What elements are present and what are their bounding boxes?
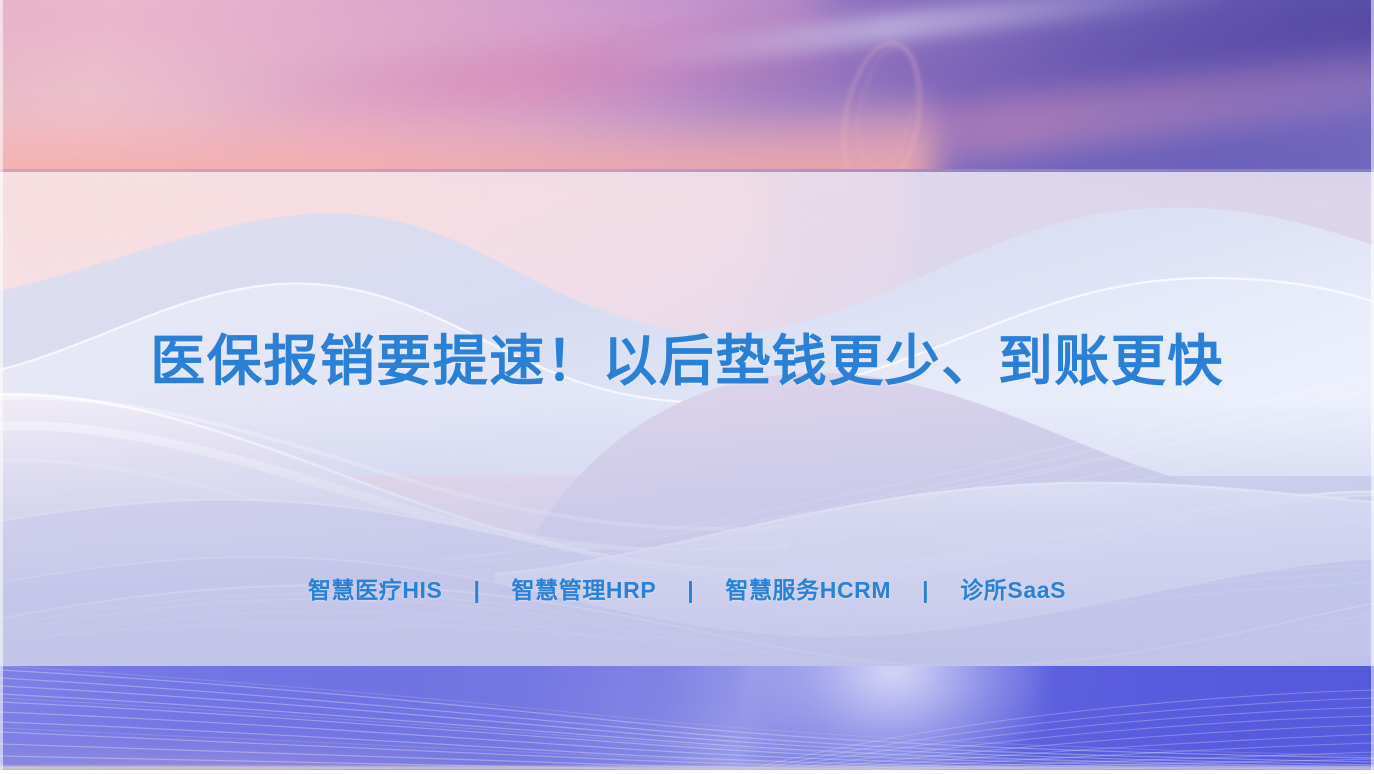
nav-separator-2: | (663, 573, 718, 607)
sunset-sky-band (0, 0, 1374, 172)
ridge-center-highlight (742, 666, 1044, 770)
nav-item-hrp[interactable]: 智慧管理HRP (512, 573, 657, 607)
nav-item-clinic-saas[interactable]: 诊所SaaS (960, 573, 1066, 607)
sky-warm-haze-lower (0, 83, 934, 172)
product-nav: 智慧医疗HIS | 智慧管理HRP | 智慧服务HCRM | 诊所SaaS (0, 573, 1374, 607)
nav-separator-1: | (449, 573, 504, 607)
poster-canvas: 医保报销要提速！以后垫钱更少、到账更快 智慧医疗HIS | 智慧管理HRP | … (0, 0, 1374, 774)
nav-separator-3: | (898, 573, 953, 607)
page-title: 医保报销要提速！以后垫钱更少、到账更快 (0, 330, 1374, 392)
bottom-white-edge (0, 770, 1374, 774)
ridge-stripe-texture (0, 666, 1374, 770)
blue-ridge-band (0, 666, 1374, 770)
nav-item-his[interactable]: 智慧医疗HIS (308, 573, 443, 607)
nav-item-hcrm[interactable]: 智慧服务HCRM (725, 573, 891, 607)
scene-bottom-lavender-fade (0, 399, 1374, 666)
